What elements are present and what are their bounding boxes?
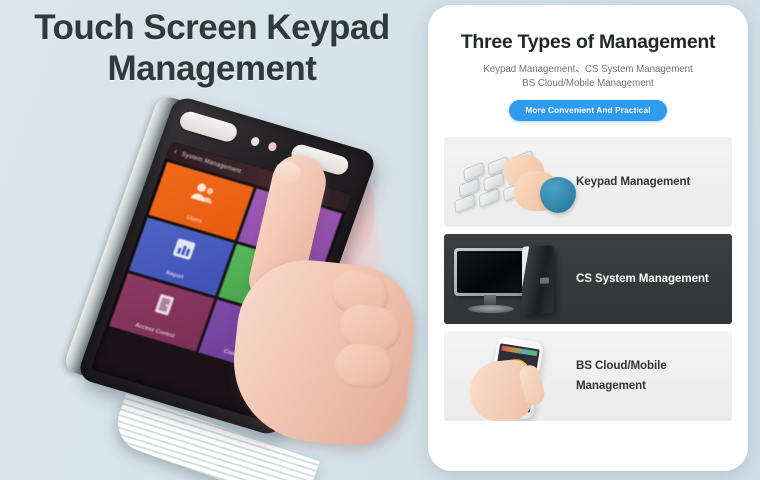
hand-touching-screen <box>235 154 425 464</box>
monitor-screen <box>457 251 525 293</box>
monitor-base <box>468 305 514 313</box>
card-cs-system-management[interactable]: CS System Management <box>444 234 732 324</box>
card-label: Keypad Management <box>576 172 690 192</box>
pressing-hand <box>496 153 570 215</box>
tile-label: Users <box>186 215 203 225</box>
tower-badge <box>540 278 549 284</box>
device-illustration: ‹ System Management Users <box>60 96 430 480</box>
panel-button-row: More Convenient And Practical <box>444 100 732 121</box>
page-title: Touch Screen Keypad Management <box>0 8 424 89</box>
keypad-key <box>454 193 475 214</box>
door-icon <box>148 290 181 320</box>
keypad-illustration <box>444 137 576 227</box>
card-label-line1: BS Cloud/Mobile <box>576 356 667 376</box>
sensor-dot-icon <box>250 136 261 147</box>
management-type-list: Keypad Management CS System Management <box>444 137 732 421</box>
card-label-group: BS Cloud/Mobile Management <box>576 356 667 397</box>
panel-subtitle-line2: BS Cloud/Mobile Management <box>444 77 732 91</box>
card-keypad-management[interactable]: Keypad Management <box>444 137 732 227</box>
camera-window-left-icon <box>177 109 239 143</box>
panel-subtitle-line1: Keypad Management、CS System Management <box>444 63 732 77</box>
panel-title: Three Types of Management <box>444 31 732 54</box>
card-bs-cloud-mobile-management[interactable]: BS Cloud/Mobile Management <box>444 331 732 421</box>
smartphone-illustration <box>444 331 576 421</box>
pc-tower-icon <box>522 245 554 315</box>
palm <box>226 253 420 450</box>
computer-illustration <box>444 234 576 324</box>
tile-label: Report <box>165 270 184 281</box>
card-label-line2: Management <box>576 376 667 396</box>
report-icon <box>167 234 200 264</box>
more-convenient-button[interactable]: More Convenient And Practical <box>509 100 666 121</box>
sleeve-cuff <box>540 177 576 213</box>
back-chevron-icon[interactable]: ‹ <box>173 148 178 156</box>
monitor-icon <box>454 248 528 296</box>
indicator-led-icon <box>267 141 278 152</box>
tile-label: Access Control <box>134 323 175 340</box>
phone-app-bar <box>501 346 537 357</box>
knuckle <box>334 342 395 390</box>
management-panel: Three Types of Management Keypad Managem… <box>428 5 748 471</box>
panel-subtitle: Keypad Management、CS System Management B… <box>444 63 732 91</box>
card-label: CS System Management <box>576 269 709 289</box>
users-icon <box>187 178 220 208</box>
